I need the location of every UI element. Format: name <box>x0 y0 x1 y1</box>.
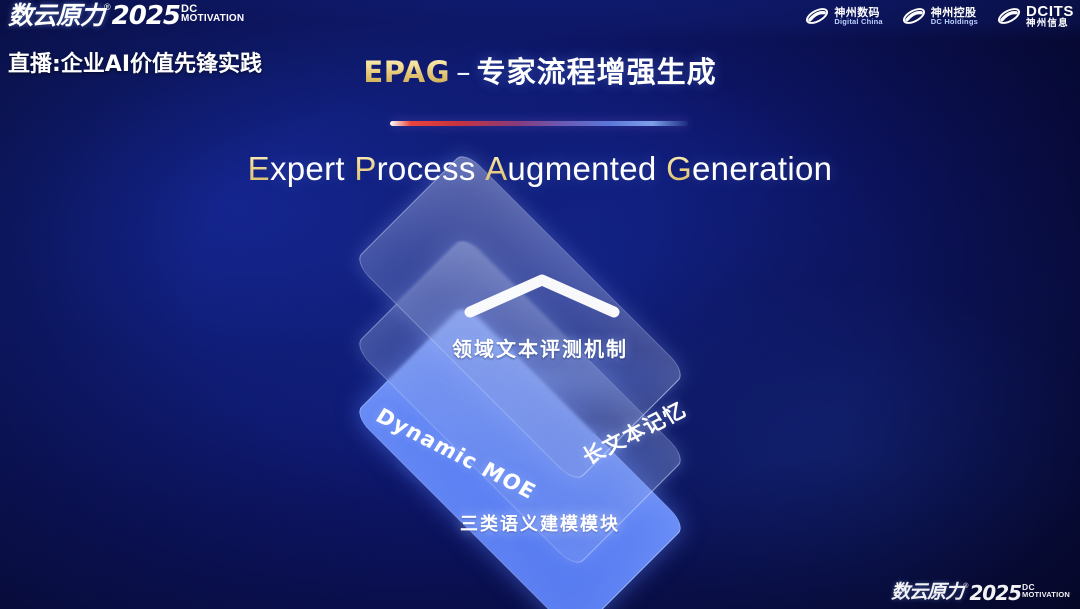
watermark-registered-mark-icon: ® <box>963 583 968 590</box>
subtitle-space-3 <box>657 150 666 187</box>
partner-logo-group: 神州数码 Digital China 神州控股 DC Holdings DCIT… <box>804 3 1074 29</box>
watermark-name-cn: 数云原力 <box>891 583 963 602</box>
slide-canvas: 数云原力 ® 2025 DC MOTIVATION 直播:企业AI价值先锋实践 … <box>0 0 1080 609</box>
subtitle-cap-e: E <box>248 150 270 187</box>
partner-name-en: Digital China <box>834 18 882 26</box>
subtitle-rest-expert: xpert <box>270 150 345 187</box>
subtitle-cap-a: A <box>485 150 507 187</box>
brand-logo: 数云原力 ® 2025 DC MOTIVATION <box>8 3 244 29</box>
partner-logo-dcits: DCITS 神州信息 <box>996 3 1074 29</box>
watermark-logo: 数云原力 ® 2025 DC MOTIVATION <box>891 583 1070 603</box>
subtitle-cap-p: P <box>354 150 376 187</box>
title-dash: – <box>456 55 471 89</box>
brand-dc-motivation: DC MOTIVATION <box>181 3 244 23</box>
swirl-icon <box>804 3 830 29</box>
brand-year: 2025 <box>112 3 180 29</box>
chevron-up-icon <box>462 272 622 320</box>
subtitle-rest-augmented: ugmented <box>507 150 656 187</box>
subtitle-expanded-acronym: Expert Process Augmented Generation <box>0 150 1080 188</box>
title-acronym: EPAG <box>363 55 450 89</box>
title-divider <box>390 121 688 126</box>
layer-stack-diagram: 领域文本评测机制 Dynamic MOE 长文本记忆 三类语义建模模块 <box>0 0 1080 609</box>
watermark-year: 2025 <box>969 583 1021 603</box>
brand-dc-line2: MOTIVATION <box>181 14 244 23</box>
live-stream-title: 直播:企业AI价值先锋实践 <box>8 46 262 78</box>
partner-logo-digital-china: 神州数码 Digital China <box>804 3 882 29</box>
subtitle-rest-generation: eneration <box>692 150 832 187</box>
partner-name-en: DCITS <box>1026 4 1074 19</box>
subtitle-space-2 <box>476 150 485 187</box>
subtitle-cap-g: G <box>666 150 692 187</box>
title-chinese: 专家流程增强生成 <box>477 55 717 89</box>
subtitle-rest-process: rocess <box>377 150 476 187</box>
watermark-dc-motivation: DC MOTIVATION <box>1022 583 1070 599</box>
registered-mark-icon: ® <box>104 3 111 12</box>
brand-name-cn: 数云原力 <box>8 3 104 28</box>
swirl-icon <box>996 3 1022 29</box>
swirl-icon <box>901 3 927 29</box>
partner-logo-dc-holdings: 神州控股 DC Holdings <box>901 3 978 29</box>
partner-name-cn: 神州信息 <box>1026 19 1074 29</box>
watermark-dc-line2: MOTIVATION <box>1022 592 1070 599</box>
subtitle-space-1 <box>345 150 354 187</box>
partner-name-en: DC Holdings <box>931 18 978 26</box>
